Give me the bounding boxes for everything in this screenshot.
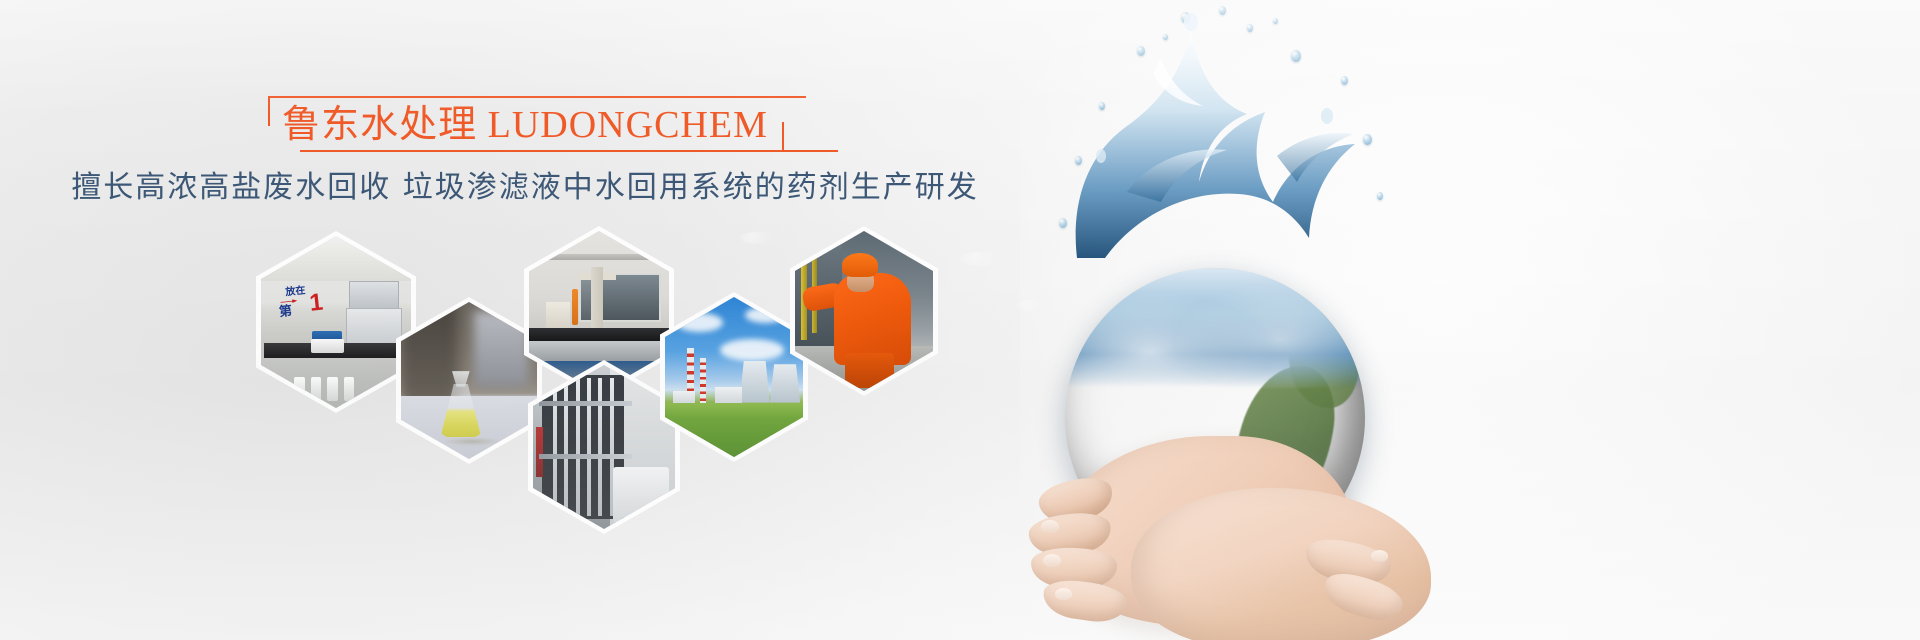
fingernail [1043, 554, 1061, 567]
fingernail [1041, 520, 1059, 533]
slogan-line2: 第 [277, 299, 292, 319]
mist-dot [1596, 206, 1612, 213]
wall-slogan: 放在 第 1 [276, 278, 340, 322]
mist-dot [1540, 186, 1562, 195]
hexagon-photo-cluster: 放在 第 1 [0, 0, 1000, 640]
photo-worker [795, 231, 933, 391]
hex-photo-lab-slogan[interactable]: 放在 第 1 [256, 231, 416, 413]
hex-photo-pipes[interactable] [528, 360, 680, 534]
slogan-line1: 放在 [284, 281, 305, 298]
hex-photo-inner [795, 231, 933, 391]
splash-crown-icon [1041, 6, 1401, 306]
fingernail [1055, 588, 1072, 600]
hex-photo-inner [401, 302, 537, 459]
hex-photo-inner [665, 297, 803, 457]
hex-photo-inner [533, 365, 675, 529]
water-splash [1041, 6, 1401, 306]
photo-lab-slogan: 放在 第 1 [261, 236, 411, 408]
hex-photo-flask[interactable] [396, 297, 542, 464]
cupped-hands [1023, 392, 1443, 640]
hex-photo-power-plant[interactable] [660, 292, 808, 462]
water-globe-artwork [1005, 0, 1525, 640]
photo-pipes [533, 365, 675, 529]
fingernail [1371, 550, 1388, 562]
globe-water-surface [1065, 268, 1365, 388]
hex-photo-inner: 放在 第 1 [261, 236, 411, 408]
photo-flask [401, 302, 537, 459]
photo-power-plant [665, 297, 803, 457]
slogan-number: 1 [308, 290, 324, 315]
hero-banner: 鲁东水处理 LUDONGCHEM 擅长高浓高盐废水回收 垃圾渗滤液中水回用系统的… [0, 0, 1920, 640]
hex-photo-worker[interactable] [790, 226, 938, 396]
